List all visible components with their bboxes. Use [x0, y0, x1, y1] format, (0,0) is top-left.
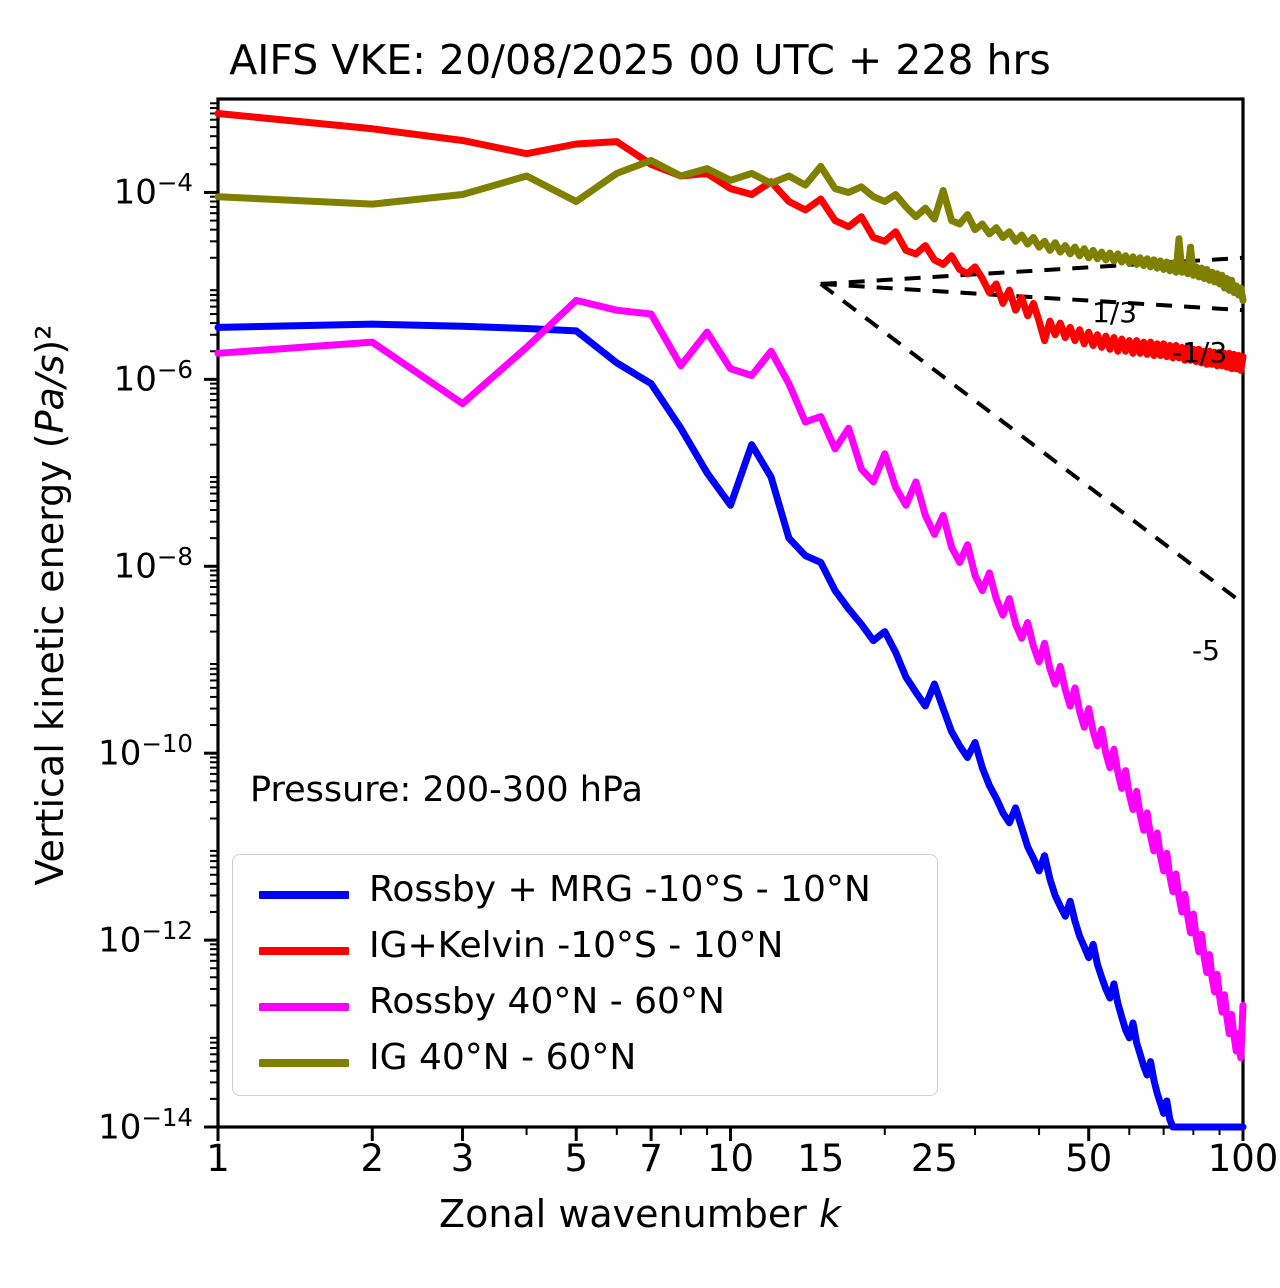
figure-canvas: AIFS VKE: 20/08/2025 00 UTC + 228 hrs Ve…	[0, 0, 1280, 1288]
legend-color-swatch	[259, 891, 349, 899]
slope-label: -5	[1192, 634, 1220, 667]
y-tick-label: 10−4	[53, 168, 193, 212]
x-tick-label: 3	[403, 1137, 523, 1180]
legend-item[interactable]: Rossby 40°N - 60°N	[233, 979, 939, 1034]
y-axis-label: Vertical kinetic energy (Pa/s)²	[28, 85, 88, 1125]
y-tick-label: 10−14	[53, 1103, 193, 1147]
pressure-annotation: Pressure: 200-300 hPa	[250, 770, 643, 810]
x-tick-label: 50	[1029, 1137, 1149, 1180]
legend-item[interactable]: IG 40°N - 60°N	[233, 1035, 939, 1090]
reference-line--5	[821, 284, 1243, 604]
legend-item[interactable]: Rossby + MRG -10°S - 10°N	[233, 867, 939, 922]
legend[interactable]: Rossby + MRG -10°S - 10°NIG+Kelvin -10°S…	[232, 854, 938, 1096]
y-tick-label: 10−8	[53, 542, 193, 586]
y-tick-label: 10−12	[53, 916, 193, 960]
x-tick-label: 25	[874, 1137, 994, 1180]
y-axis-label-suffix: )²	[28, 325, 72, 355]
x-axis-label: Zonal wavenumber k	[0, 1192, 1280, 1236]
legend-item-label: Rossby + MRG -10°S - 10°N	[369, 869, 871, 910]
legend-item[interactable]: IG+Kelvin -10°S - 10°N	[233, 923, 939, 978]
slope-label: 1/3	[1092, 296, 1137, 329]
y-axis-label-prefix: Vertical kinetic energy (	[28, 433, 72, 885]
slope-label: -1/3	[1172, 336, 1227, 369]
legend-item-label: Rossby 40°N - 60°N	[369, 981, 725, 1022]
series-line	[218, 113, 1243, 370]
series-line	[218, 160, 1243, 300]
legend-item-label: IG 40°N - 60°N	[369, 1037, 636, 1078]
x-tick-label: 100	[1183, 1137, 1280, 1180]
x-axis-label-symbol: k	[819, 1192, 841, 1236]
y-tick-label: 10−10	[53, 729, 193, 773]
x-axis-label-text: Zonal wavenumber	[439, 1192, 819, 1236]
y-tick-label: 10−6	[53, 355, 193, 399]
legend-color-swatch	[259, 1003, 349, 1011]
legend-color-swatch	[259, 947, 349, 955]
x-tick-label: 15	[761, 1137, 881, 1180]
legend-item-label: IG+Kelvin -10°S - 10°N	[369, 925, 783, 966]
legend-color-swatch	[259, 1059, 349, 1067]
